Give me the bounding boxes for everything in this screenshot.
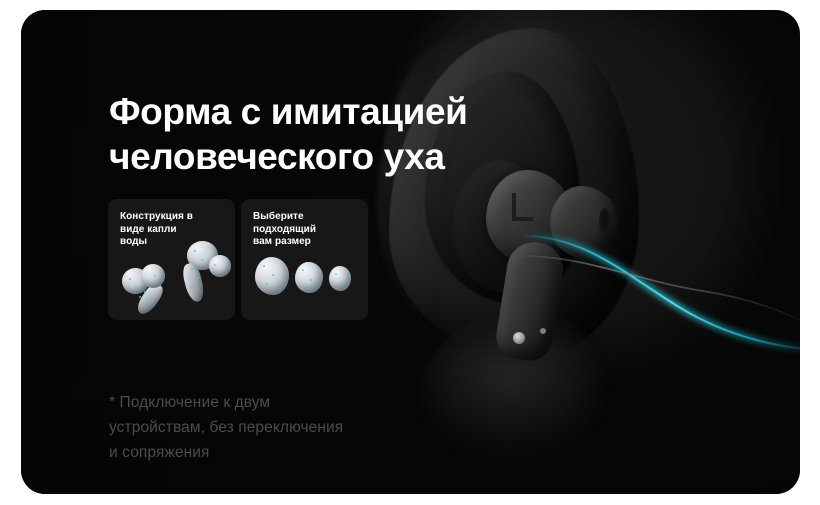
earbud-head-shape <box>122 268 149 294</box>
banner-headline: Форма с имитацией человеческого уха <box>109 89 529 179</box>
earbud-stem-shape <box>181 262 207 304</box>
feature-card-title: Выберите подходящий вам размер <box>253 211 360 249</box>
earbud-stem-shape <box>134 280 167 317</box>
earbud-illustration-right <box>171 241 233 305</box>
ear-tip-medium <box>295 262 323 293</box>
footnote-line-2: устройствам, без переключения <box>109 415 529 440</box>
headline-line-2: человеческого уха <box>109 134 529 179</box>
card1-title-line-1: Конструкция в <box>120 211 193 222</box>
banner-content: Форма с имитацией человеческого уха Конс… <box>21 10 800 494</box>
card1-title-line-3: воды <box>120 236 147 247</box>
banner-footnote: * Подключение к двум устройствам, без пе… <box>109 390 529 465</box>
earbud-tip-shape <box>141 264 165 288</box>
ear-tip-small <box>329 266 351 291</box>
earbud-tip-shape <box>209 255 231 277</box>
feature-card-title: Конструкция в виде капли воды <box>120 211 227 249</box>
headline-line-1: Форма с имитацией <box>109 89 529 134</box>
earbuds-promo-banner: Форма с имитацией человеческого уха Конс… <box>21 10 800 494</box>
earbud-illustration-left <box>122 258 182 310</box>
feature-card-drop-shape[interactable]: Конструкция в виде капли воды <box>108 199 235 320</box>
ear-tip-large <box>255 257 289 295</box>
feature-card-tip-size[interactable]: Выберите подходящий вам размер <box>241 199 368 320</box>
card2-title-line-1: Выберите <box>253 211 304 222</box>
card2-title-line-2: подходящий <box>253 224 316 235</box>
card1-title-line-2: виде капли <box>120 224 177 235</box>
card2-title-line-3: вам размер <box>253 236 311 247</box>
feature-card-list: Конструкция в виде капли воды <box>108 199 368 320</box>
footnote-line-3: и сопряжения <box>109 440 529 465</box>
footnote-line-1: * Подключение к двум <box>109 390 529 415</box>
